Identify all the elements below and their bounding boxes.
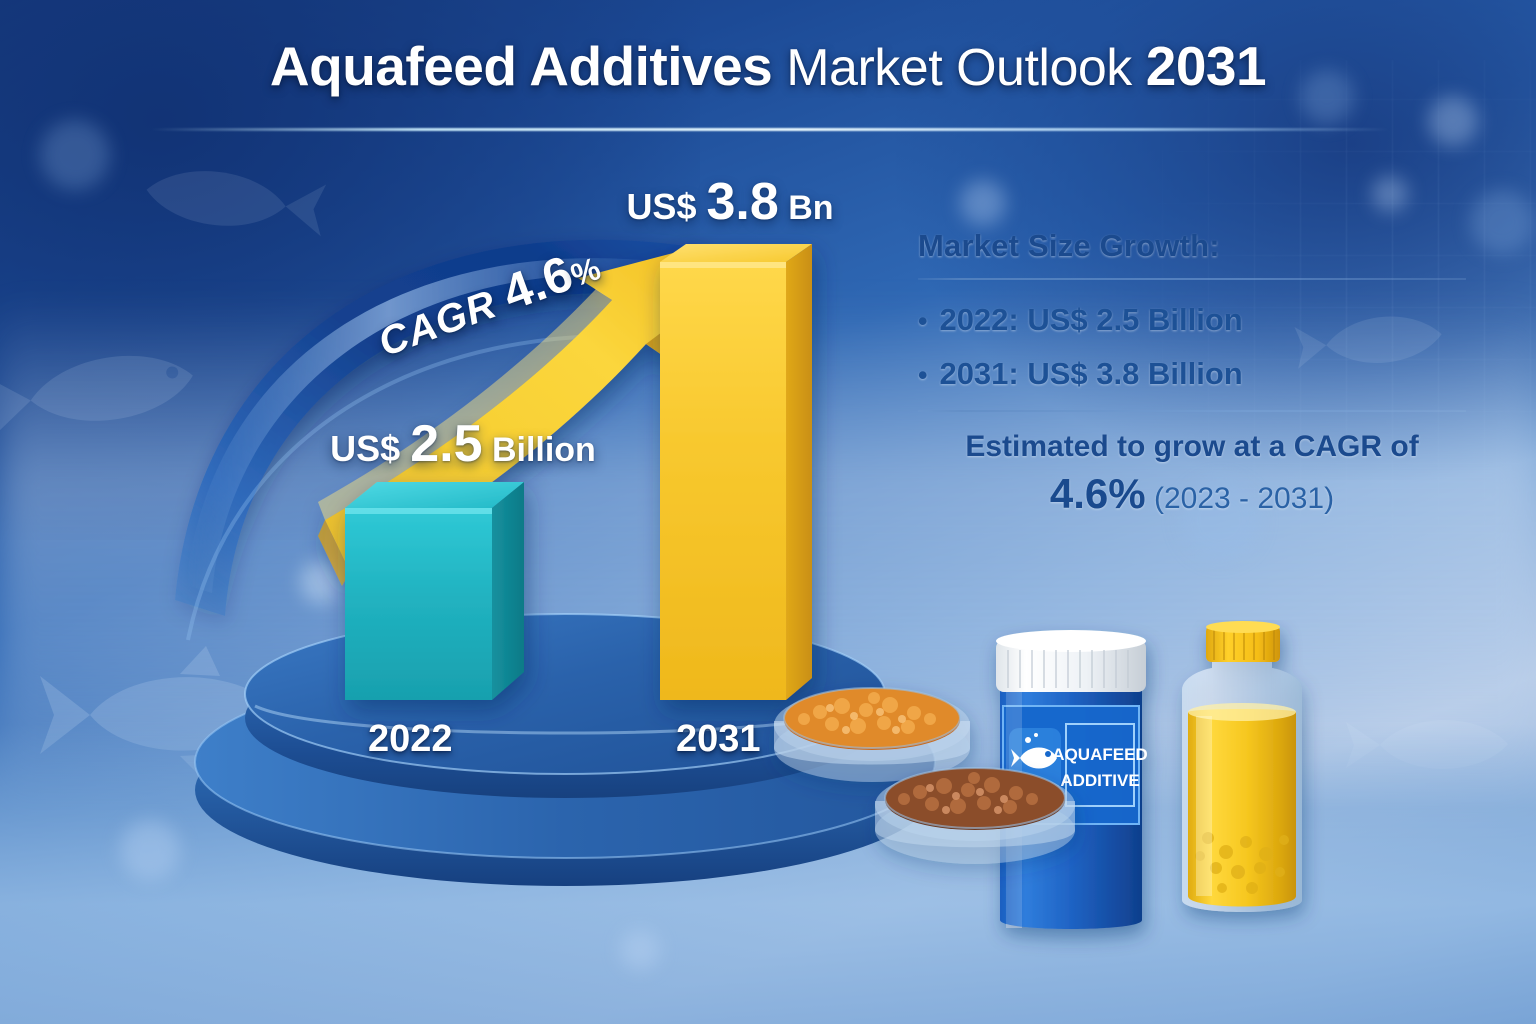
- bullet-dot-icon: •: [918, 308, 927, 335]
- bar-2022: [345, 482, 524, 700]
- petri-dish-brown: [875, 768, 1075, 864]
- panel-divider-top: [918, 278, 1466, 280]
- list-item-label: 2022: US$ 2.5 Billion: [939, 302, 1242, 338]
- list-item: • 2022: US$ 2.5 Billion: [918, 302, 1466, 338]
- market-size-list: • 2022: US$ 2.5 Billion • 2031: US$ 3.8 …: [918, 302, 1466, 392]
- stats-panel: Market Size Growth: • 2022: US$ 2.5 Bill…: [918, 228, 1466, 518]
- panel-heading: Market Size Growth:: [918, 228, 1466, 264]
- axis-label-2022: 2022: [368, 718, 453, 761]
- title-part-year: 2031: [1146, 35, 1266, 97]
- value-currency: US$: [330, 428, 410, 469]
- cagr-note-value: 4.6%: [1050, 470, 1146, 517]
- bokeh-dot: [1372, 176, 1408, 212]
- value-number: 2.5: [410, 415, 482, 473]
- petri-dish-orange: [774, 688, 970, 782]
- value-label-2022: US$ 2.5 Billion: [288, 414, 638, 474]
- jar-label-line1: AQUAFEED: [1052, 745, 1147, 764]
- value-unit: Billion: [483, 431, 596, 469]
- value-number: 3.8: [706, 173, 778, 231]
- cagr-note: Estimated to grow at a CAGR of 4.6% (202…: [918, 430, 1466, 518]
- cagr-note-range: (2023 - 2031): [1146, 482, 1334, 515]
- list-item-label: 2031: US$ 3.8 Billion: [939, 356, 1242, 392]
- product-group: AQUAFEED ADDITIVE: [760, 620, 1360, 980]
- value-unit: Bn: [779, 189, 834, 227]
- list-item: • 2031: US$ 3.8 Billion: [918, 356, 1466, 392]
- infographic-canvas: Aquafeed Additives Market Outlook 2031: [0, 0, 1536, 1024]
- cagr-note-line1: Estimated to grow at a CAGR of: [918, 430, 1466, 464]
- axis-label-2031: 2031: [676, 718, 761, 761]
- value-label-2031: US$ 3.8 Bn: [560, 172, 900, 232]
- cagr-note-line2: 4.6% (2023 - 2031): [918, 470, 1466, 518]
- panel-divider-bottom: [918, 410, 1466, 412]
- jar-label-line2: ADDITIVE: [1060, 771, 1139, 790]
- bullet-dot-icon: •: [918, 362, 927, 389]
- bokeh-dot: [1428, 96, 1478, 146]
- bokeh-dot: [1470, 190, 1534, 254]
- additive-bottle: [1182, 621, 1302, 912]
